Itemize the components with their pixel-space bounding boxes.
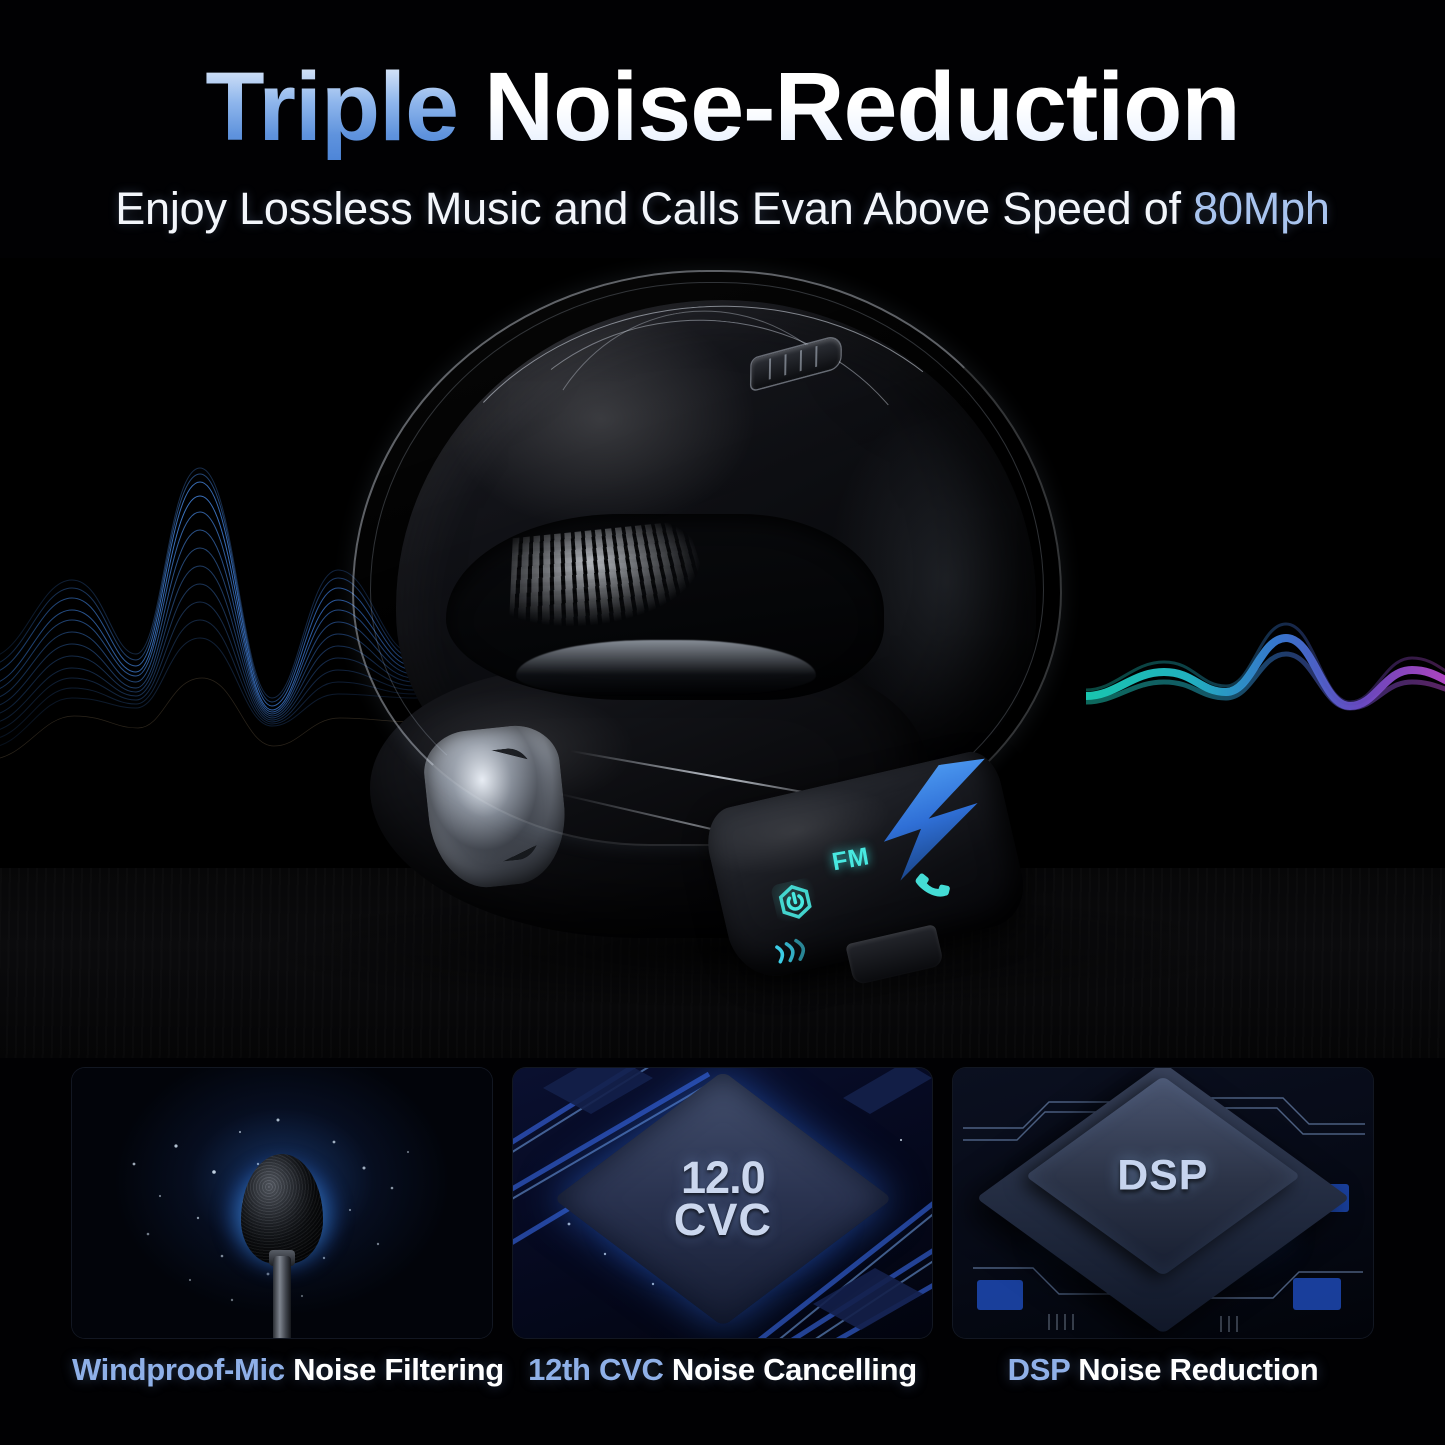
feature-panel-dsp: DSP — [953, 1068, 1373, 1338]
caption-windproof-mic: Windproof-Mic Noise Filtering — [72, 1352, 492, 1406]
microphone-boom — [273, 1256, 291, 1338]
caption-highlight: Windproof-Mic — [72, 1352, 285, 1387]
cvc-chip-label-line2: CVC — [673, 1199, 771, 1241]
caption-cvc: 12th CVC Noise Cancelling — [513, 1352, 932, 1406]
page-title-part-2: Noise-Reduction — [458, 52, 1240, 161]
caption-rest: Noise Reduction — [1070, 1352, 1318, 1387]
helmet-product: FM — [318, 276, 1118, 988]
feature-panel-windproof-mic — [72, 1068, 492, 1338]
poster-canvas: Triple Noise-Reduction Enjoy Lossless Mu… — [0, 0, 1445, 1445]
dsp-chip-label: DSP — [1117, 1152, 1208, 1201]
feature-captions: Windproof-Mic Noise Filtering 12th CVC N… — [72, 1352, 1373, 1406]
hero-image: FM — [0, 258, 1445, 1058]
cvc-chip-label-line1: 12.0 — [673, 1156, 771, 1198]
cvc-chip-label: 12.0 CVC — [673, 1156, 771, 1241]
page-subtitle: Enjoy Lossless Music and Calls Evan Abov… — [0, 183, 1445, 235]
page-subtitle-text: Enjoy Lossless Music and Calls Evan Abov… — [115, 183, 1193, 234]
feature-panel-cvc: 12.0 CVC — [513, 1068, 932, 1338]
page-title: Triple Noise-Reduction — [0, 58, 1445, 157]
caption-rest: Noise Cancelling — [664, 1352, 917, 1387]
page-title-part-1: Triple — [205, 52, 458, 161]
feature-panels: 12.0 CVC — [72, 1068, 1373, 1338]
caption-dsp: DSP Noise Reduction — [953, 1352, 1373, 1406]
page-subtitle-highlight: 80Mph — [1193, 183, 1330, 234]
caption-highlight: 12th CVC — [528, 1352, 663, 1387]
caption-rest: Noise Filtering — [285, 1352, 504, 1387]
caption-highlight: DSP — [1008, 1352, 1070, 1387]
clean-output-soundwave-icon — [1086, 610, 1445, 750]
